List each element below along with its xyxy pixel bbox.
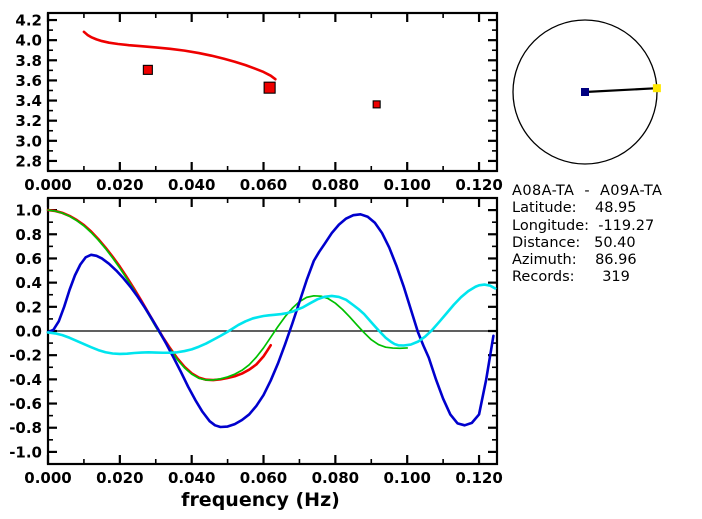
target-station-marker: [653, 84, 661, 92]
phase-velocity-panel-xticklabel: 0.060: [240, 176, 287, 194]
cross-correlation-panel-yticklabel: -0.2: [9, 347, 42, 365]
cross-correlation-panel-green-trace: [48, 210, 407, 380]
phase-velocity-panel-dispersion-curve: [84, 32, 275, 79]
cross-correlation-panel-yticklabel: 0.6: [15, 250, 42, 268]
phase-velocity-panel-xticklabel: 0.100: [383, 176, 430, 194]
cross-correlation-panel-yticklabel: -1.0: [9, 443, 42, 461]
phase-velocity-panel-yticklabel: 3.6: [15, 72, 42, 90]
info-row-distance: Distance: 50.40: [512, 235, 702, 252]
phase-velocity-panel-yticklabel: 3.4: [15, 92, 42, 110]
cross-correlation-panel-yticklabel: 0.0: [15, 323, 42, 341]
phase-velocity-panel-data-marker: [143, 65, 152, 74]
cross-correlation-panel-xticklabel: 0.080: [312, 469, 359, 487]
phase-velocity-panel-data-marker: [373, 101, 380, 108]
phase-velocity-panel-xticklabel: 0.120: [455, 176, 502, 194]
info-row-longitude: Longitude: -119.27: [512, 218, 702, 235]
phase-velocity-panel-data-marker: [264, 82, 275, 93]
cross-correlation-panel-yticklabel: -0.4: [9, 371, 42, 389]
cross-correlation-panel-xticklabel: 0.000: [24, 469, 71, 487]
cross-correlation-panel-yticklabel: -0.6: [9, 395, 42, 413]
cross-correlation-panel-yticklabel: 0.2: [15, 298, 42, 316]
info-row-records: Records: 319: [512, 269, 702, 286]
phase-velocity-panel-yticklabel: 4.2: [15, 12, 42, 30]
phase-velocity-panel-yticklabel: 4.0: [15, 32, 42, 50]
info-row-latitude: Latitude: 48.95: [512, 200, 702, 217]
cross-correlation-panel-xticklabel: 0.060: [240, 469, 287, 487]
cross-correlation-panel-yticklabel: 0.4: [15, 274, 42, 292]
phase-velocity-panel-yticklabel: 3.0: [15, 132, 42, 150]
azimuth-ray: [585, 88, 657, 92]
cross-correlation-panel-xaxis-title: frequency (Hz): [181, 489, 340, 511]
cross-correlation-panel-xticklabel: 0.120: [455, 469, 502, 487]
cross-correlation-panel-xticklabel: 0.020: [96, 469, 143, 487]
cross-correlation-panel-yticklabel: 0.8: [15, 226, 42, 244]
cross-correlation-panel-xticklabel: 0.100: [383, 469, 430, 487]
phase-velocity-panel-yticklabel: 2.8: [15, 152, 42, 170]
cross-correlation-panel-cyan-trace: [48, 285, 495, 354]
figure-root: 2.83.03.23.43.63.84.04.20.0000.0200.0400…: [0, 0, 702, 519]
info-row-azimuth: Azimuth: 86.96: [512, 252, 702, 269]
phase-velocity-panel-xticklabel: 0.020: [96, 176, 143, 194]
phase-velocity-panel-yticklabel: 3.2: [15, 112, 42, 130]
station-pair-label: A08A-TA - A09A-TA: [512, 183, 702, 200]
cross-correlation-panel-xticklabel: 0.040: [168, 469, 215, 487]
station-pair-info-panel: A08A-TA - A09A-TA Latitude: 48.95 Longit…: [512, 183, 702, 287]
cross-correlation-panel-yticklabel: -0.8: [9, 419, 42, 437]
cross-correlation-panel-red-trace: [48, 210, 271, 380]
phase-velocity-panel-xticklabel: 0.040: [168, 176, 215, 194]
phase-velocity-panel-xticklabel: 0.000: [24, 176, 71, 194]
phase-velocity-panel-xticklabel: 0.080: [312, 176, 359, 194]
origin-station-marker: [581, 88, 589, 96]
cross-correlation-panel-yticklabel: 1.0: [15, 202, 42, 220]
phase-velocity-panel-yticklabel: 3.8: [15, 52, 42, 70]
cross-correlation-panel-blue-trace: [48, 214, 493, 427]
